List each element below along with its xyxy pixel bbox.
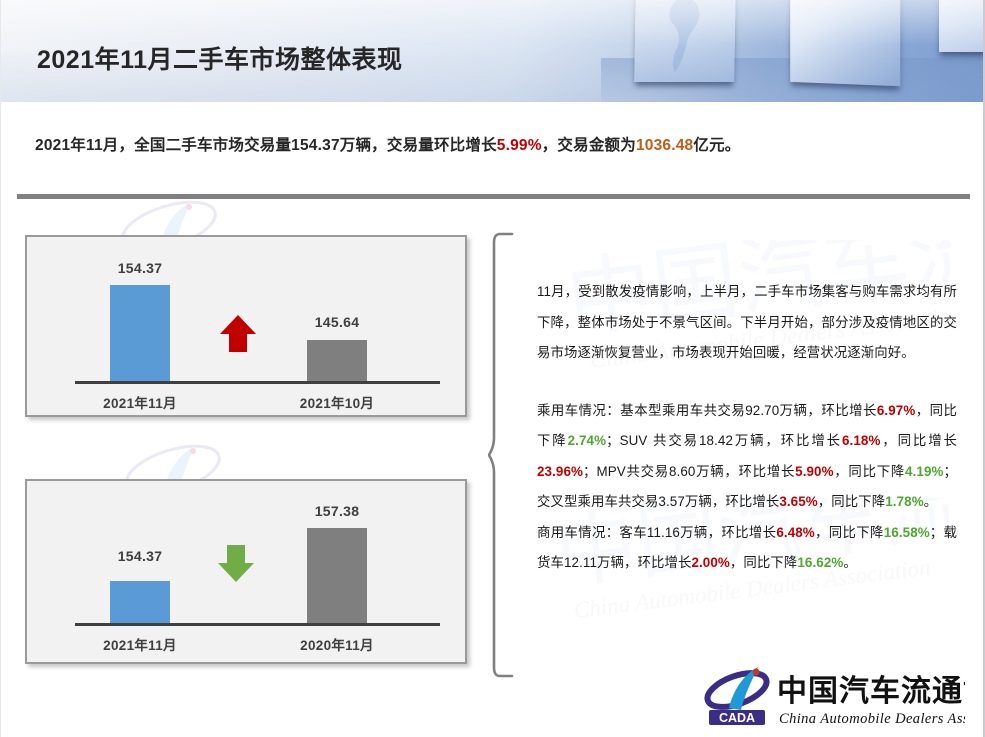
paragraph-overview: 11月，受到散发疫情影响，上半月，二手车市场集客与购车需求均有所下降，整体市场处… xyxy=(537,277,957,369)
arrow-down-icon xyxy=(217,543,255,583)
subtitle-seg-2: ，交易金额为 xyxy=(542,137,636,154)
pv-mpv-mom-value: 5.90% xyxy=(795,464,833,479)
chart-card-month-over-month: 154.37 145.64 2021年11月 2021年10月 xyxy=(25,235,467,417)
bar-column xyxy=(110,481,170,623)
cada-emblem-icon: CADA xyxy=(703,666,771,725)
cv-bus-mom-value: 6.48% xyxy=(776,525,814,540)
paragraph-commercial-vehicles: 商用车情况：客车11.16万辆，环比增长6.48%，同比下降16.58%；载货车… xyxy=(537,518,957,579)
curly-brace-icon xyxy=(488,231,514,679)
category-label: 2021年10月 xyxy=(262,392,412,412)
subtitle-mom-growth-value: 5.99% xyxy=(497,137,542,154)
header-divider xyxy=(17,194,970,199)
pv-cross-yoy-value: 1.78% xyxy=(885,494,923,509)
bar-column xyxy=(110,237,170,381)
cada-abbr-text: CADA xyxy=(719,711,755,725)
arrow-up-icon xyxy=(219,313,257,353)
pv-seg-6: ，同比下降 xyxy=(834,464,905,479)
pv-seg-5: ；MPV共交易8.60万辆，环比增长 xyxy=(583,464,795,479)
category-label: 2021年11月 xyxy=(65,392,215,412)
bar-column xyxy=(307,237,367,381)
pv-suv-yoy-value: 23.96% xyxy=(537,464,583,479)
chart-card-year-over-year: 154.37 157.38 2021年11月 2020年11月 xyxy=(25,479,467,664)
slide-root: 2021年11月二手车市场整体表现 2021年11月，全国二手车市场交易量154… xyxy=(0,0,985,737)
bar-2020-11 xyxy=(307,528,367,623)
category-label: 2020年11月 xyxy=(262,634,412,654)
cv-seg-4: ，同比下降 xyxy=(730,555,797,570)
category-label: 2021年11月 xyxy=(65,634,215,654)
pv-suv-mom-value: 6.18% xyxy=(842,433,880,448)
chart-baseline-axis xyxy=(75,623,440,626)
body-text-panel: 11月，受到散发疫情影响，上半月，二手车市场集客与购车需求均有所下降，整体市场处… xyxy=(537,277,957,579)
paragraph-passenger-vehicles: 乘用车情况：基本型乘用车共交易92.70万辆，环比增长6.97%，同比下降2.7… xyxy=(537,396,957,518)
summary-subtitle: 2021年11月，全国二手车市场交易量154.37万辆，交易量环比增长5.99%… xyxy=(35,133,955,155)
header-banner: 2021年11月二手车市场整体表现 xyxy=(1,0,985,102)
cv-seg-1: 商用车情况：客车11.16万辆，环比增长 xyxy=(537,525,776,540)
subtitle-seg-3: 亿元。 xyxy=(693,137,740,154)
pv-seg-9: 。 xyxy=(924,494,938,509)
cv-truck-mom-value: 2.00% xyxy=(691,555,729,570)
pv-mpv-yoy-value: 4.19% xyxy=(905,464,943,479)
pv-cross-mom-value: 3.65% xyxy=(779,494,817,509)
bar-2021-11 xyxy=(110,285,170,381)
cada-en-name: China Automobile Dealers Association xyxy=(779,711,965,727)
cv-bus-yoy-value: 16.58% xyxy=(884,525,930,540)
pv-seg-4: ，同比增长 xyxy=(880,433,957,448)
pv-seg-1: 乘用车情况：基本型乘用车共交易92.70万辆，环比增长 xyxy=(537,403,877,418)
pv-seg-3: ；SUV 共交易18.42万辆，环比增长 xyxy=(606,433,842,448)
subtitle-seg-1: 2021年11月，全国二手车市场交易量154.37万辆，交易量环比增长 xyxy=(35,137,497,154)
cada-cn-name: 中国汽车流通协会 xyxy=(777,674,965,708)
pv-basic-yoy-value: 2.74% xyxy=(568,433,606,448)
bar-2021-11 xyxy=(110,581,170,623)
cv-seg-5: 。 xyxy=(843,555,857,570)
chart-plot-area: 154.37 157.38 2021年11月 2020年11月 xyxy=(27,481,465,662)
cada-logo: CADA 中国汽车流通协会 China Automobile Dealers A… xyxy=(703,664,965,730)
chart-baseline-axis xyxy=(75,381,440,384)
chart-plot-area: 154.37 145.64 2021年11月 2021年10月 xyxy=(27,237,465,415)
cv-seg-2: ，同比下降 xyxy=(815,525,884,540)
cv-truck-yoy-value: 16.62% xyxy=(797,555,843,570)
bar-column xyxy=(307,481,367,623)
page-title: 2021年11月二手车市场整体表现 xyxy=(37,40,403,76)
subtitle-amount-value: 1036.48 xyxy=(636,137,693,154)
pv-basic-mom-value: 6.97% xyxy=(877,403,915,418)
pv-seg-8: ，同比下降 xyxy=(818,494,885,509)
bar-2021-10 xyxy=(307,340,367,381)
